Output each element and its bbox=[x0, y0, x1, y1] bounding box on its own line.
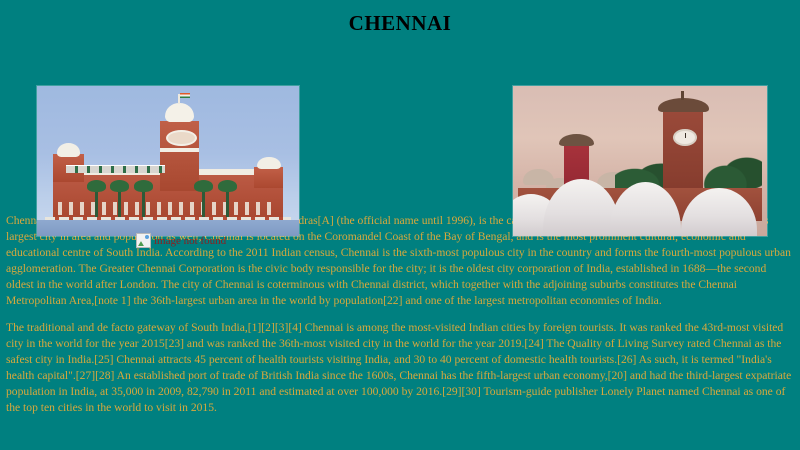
station-clock-face bbox=[166, 130, 196, 146]
clock-tower-finial bbox=[681, 91, 684, 100]
broken-image-icon bbox=[136, 233, 151, 248]
station-tower-dome bbox=[165, 103, 194, 123]
paragraph-tourism: The traditional and de facto gateway of … bbox=[6, 320, 794, 416]
station-right-dome bbox=[257, 157, 281, 169]
figure-madras-university-clock-tower bbox=[512, 85, 768, 237]
figure-chennai-central-station bbox=[36, 85, 300, 237]
palm-tree bbox=[142, 187, 145, 220]
chennai-central-illustration bbox=[37, 86, 299, 236]
article-body: Chennai (/ˈtʃɛnaɪ/ (listen), Tamil: [ˈt͡… bbox=[0, 213, 800, 416]
station-right-wing bbox=[254, 167, 283, 188]
indian-flag-icon bbox=[180, 93, 190, 98]
station-train bbox=[66, 165, 166, 174]
station-tower-band bbox=[160, 148, 199, 153]
palm-tree bbox=[95, 187, 98, 220]
palm-tree bbox=[118, 187, 121, 220]
senate-side-tower-cap bbox=[559, 134, 595, 146]
senate-house-illustration bbox=[513, 86, 767, 236]
palm-tree bbox=[202, 187, 205, 220]
broken-image-placeholder: image not found bbox=[136, 233, 226, 248]
figure-gallery: image not found bbox=[0, 35, 800, 207]
palm-tree bbox=[226, 187, 229, 220]
station-arcade bbox=[58, 202, 278, 216]
page-title: CHENNAI bbox=[0, 0, 800, 35]
clock-tower-cap bbox=[658, 98, 709, 112]
broken-image-label: image not found bbox=[154, 235, 226, 247]
station-left-dome bbox=[57, 143, 81, 157]
